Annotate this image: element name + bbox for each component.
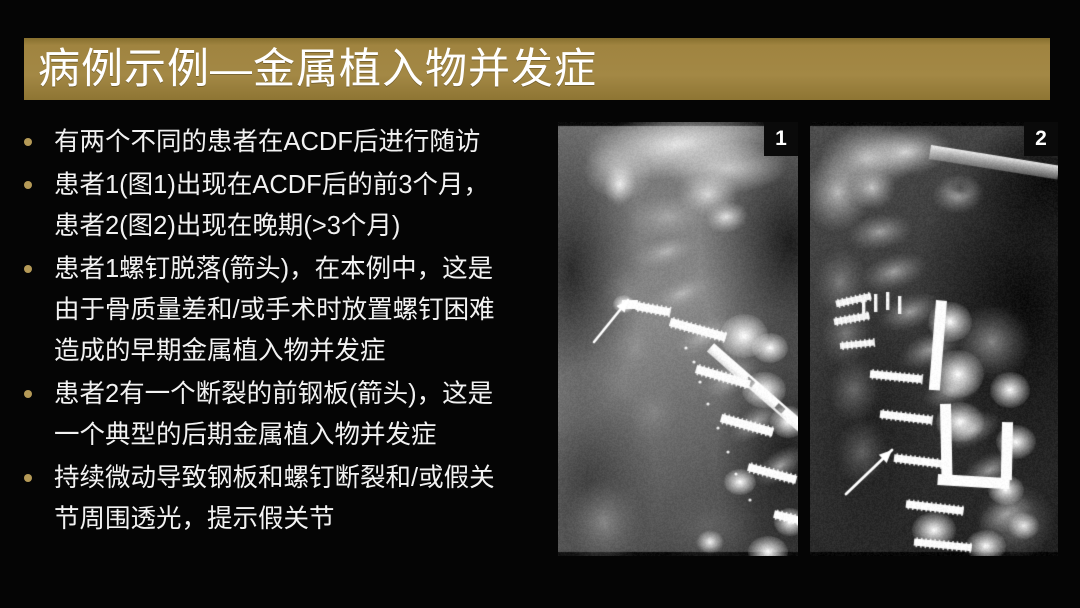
list-item: 有两个不同的患者在ACDF后进行随访 (14, 122, 550, 163)
xray-canvas-1 (558, 122, 798, 556)
bullet-dot-icon (24, 474, 32, 482)
bullet-text: 患者1螺钉脱落(箭头)，在本例中，这是 由于骨质量差和/或手术时放置螺钉困难 造… (54, 249, 550, 372)
list-item: 持续微动导致钢板和螺钉断裂和/或假关 节周围透光，提示假关节 (14, 458, 550, 540)
bullet-line: 有两个不同的患者在ACDF后进行随访 (54, 122, 550, 163)
list-item: 患者2有一个断裂的前钢板(箭头)，这是 一个典型的后期金属植入物并发症 (14, 374, 550, 456)
bullet-text: 持续微动导致钢板和螺钉断裂和/或假关 节周围透光，提示假关节 (54, 458, 550, 540)
figure-label-2: 2 (1024, 122, 1058, 156)
bullet-dot-icon (24, 138, 32, 146)
bullet-line: 持续微动导致钢板和螺钉断裂和/或假关 (54, 458, 550, 499)
bullet-line: 患者1(图1)出现在ACDF后的前3个月， (54, 165, 550, 206)
xray-image-patient-2: 2 (810, 122, 1058, 556)
bullet-dot-icon (24, 265, 32, 273)
xray-image-patient-1: 1 (558, 122, 798, 556)
bullet-line: 患者1螺钉脱落(箭头)，在本例中，这是 (54, 249, 550, 290)
bullet-line: 节周围透光，提示假关节 (54, 499, 550, 540)
bullet-line: 一个典型的后期金属植入物并发症 (54, 415, 550, 456)
xray-canvas-2 (810, 122, 1058, 556)
bullet-list: 有两个不同的患者在ACDF后进行随访 患者1(图1)出现在ACDF后的前3个月，… (14, 122, 550, 562)
bullet-dot-icon (24, 390, 32, 398)
list-item: 患者1(图1)出现在ACDF后的前3个月， 患者2(图2)出现在晚期(>3个月) (14, 165, 550, 247)
page-title: 病例示例—金属植入物并发症 (38, 48, 597, 90)
bullet-text: 有两个不同的患者在ACDF后进行随访 (54, 122, 550, 163)
bullet-line: 患者2(图2)出现在晚期(>3个月) (54, 206, 550, 247)
bullet-text: 患者1(图1)出现在ACDF后的前3个月， 患者2(图2)出现在晚期(>3个月) (54, 165, 550, 247)
bullet-line: 由于骨质量差和/或手术时放置螺钉困难 (54, 290, 550, 331)
bullet-line: 造成的早期金属植入物并发症 (54, 331, 550, 372)
title-banner: 病例示例—金属植入物并发症 (24, 38, 1050, 100)
bullet-line: 患者2有一个断裂的前钢板(箭头)，这是 (54, 374, 550, 415)
figure-label-1: 1 (764, 122, 798, 156)
slide-root: 病例示例—金属植入物并发症 有两个不同的患者在ACDF后进行随访 患者1(图1)… (0, 0, 1080, 608)
bullet-text: 患者2有一个断裂的前钢板(箭头)，这是 一个典型的后期金属植入物并发症 (54, 374, 550, 456)
bullet-dot-icon (24, 181, 32, 189)
list-item: 患者1螺钉脱落(箭头)，在本例中，这是 由于骨质量差和/或手术时放置螺钉困难 造… (14, 249, 550, 372)
